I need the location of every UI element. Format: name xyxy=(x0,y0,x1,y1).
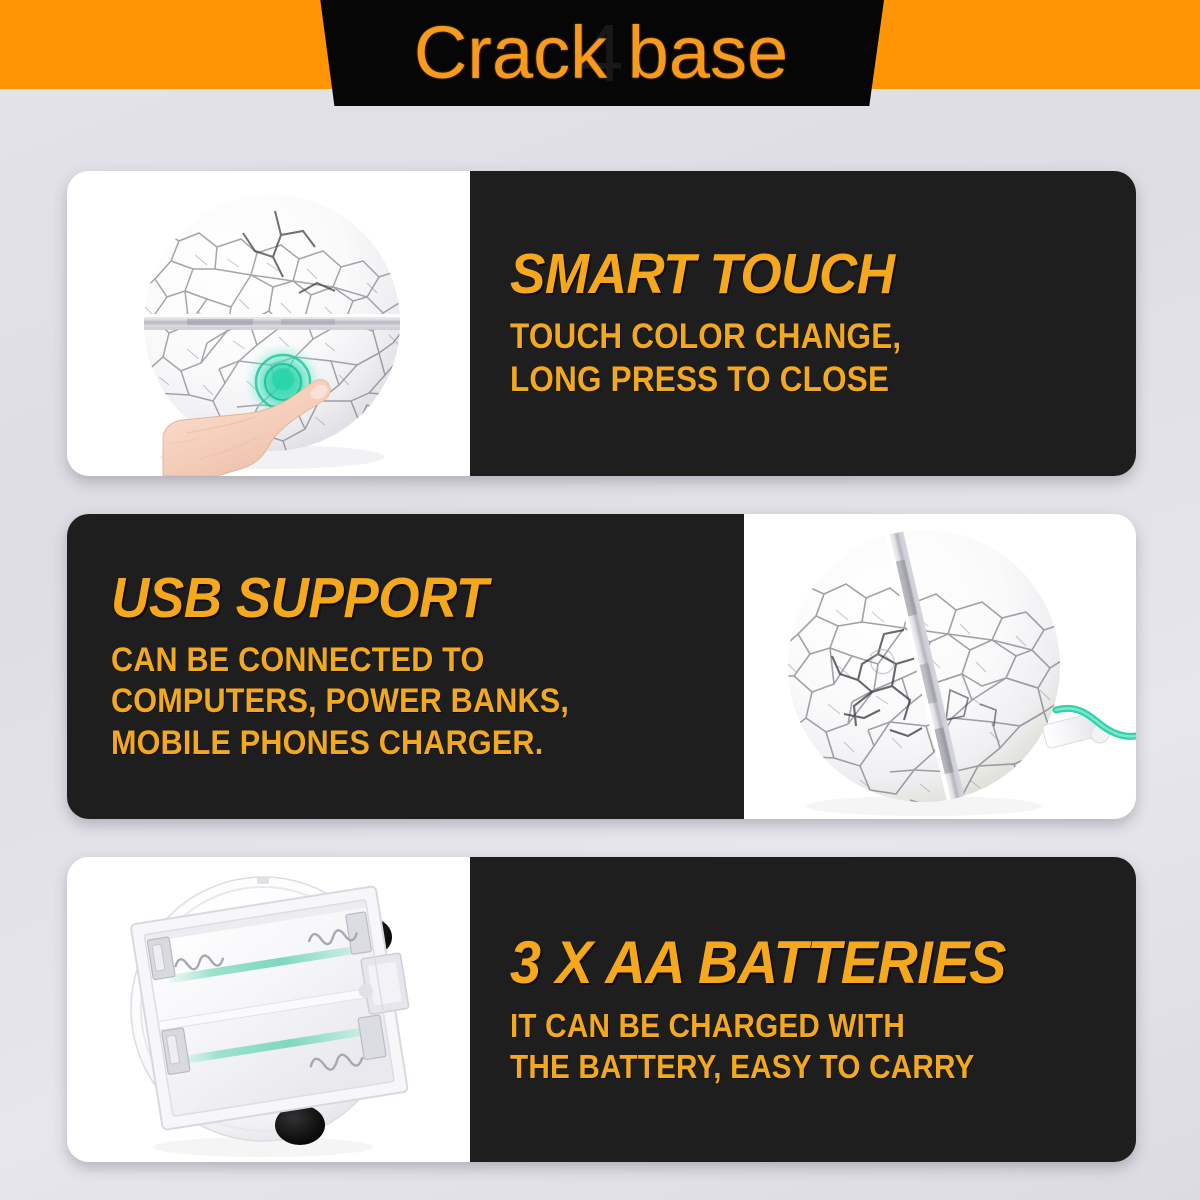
feature-text-smart-touch: SMART TOUCH TOUCH COLOR CHANGE, LONG PRE… xyxy=(470,171,1136,476)
product-photo-aa-batteries xyxy=(67,857,470,1162)
feature-text-usb-support: USB SUPPORT CAN BE CONNECTED TO COMPUTER… xyxy=(67,514,744,819)
usb-cable xyxy=(1042,708,1136,749)
panel-subtext-aa-batteries: IT CAN BE CHARGED WITH THE BATTERY, EASY… xyxy=(510,1006,1073,1087)
page-title: Crack base xyxy=(414,3,788,103)
panel-heading-usb-support: USB SUPPORT xyxy=(111,569,700,627)
panel-subtext-line: COMPUTERS, POWER BANKS, xyxy=(111,681,681,722)
artwork-aa-batteries xyxy=(67,857,470,1162)
battery-compartment xyxy=(130,884,421,1130)
product-photo-smart-touch xyxy=(67,171,470,476)
product-photo-usb-support xyxy=(744,514,1136,819)
feature-text-aa-batteries: 3 X AA BATTERIES IT CAN BE CHARGED WITH … xyxy=(470,857,1136,1162)
panel-subtext-smart-touch: TOUCH COLOR CHANGE, LONG PRESS TO CLOSE xyxy=(510,316,1073,401)
panel-subtext-line: MOBILE PHONES CHARGER. xyxy=(111,723,681,764)
artwork-usb-support xyxy=(744,514,1136,819)
panel-subtext-line: IT CAN BE CHARGED WITH xyxy=(510,1006,1073,1046)
header-title-plate: 4 Crack base xyxy=(318,0,884,106)
panel-heading-smart-touch: SMART TOUCH xyxy=(510,245,1092,303)
panel-subtext-usb-support: CAN BE CONNECTED TO COMPUTERS, POWER BAN… xyxy=(111,640,681,764)
smart-touch-illustration xyxy=(67,171,470,476)
artwork-smart-touch xyxy=(67,171,470,476)
feature-panel-smart-touch: SMART TOUCH TOUCH COLOR CHANGE, LONG PRE… xyxy=(67,171,1136,476)
usb-support-illustration xyxy=(744,514,1136,819)
feature-panel-usb-support: USB SUPPORT CAN BE CONNECTED TO COMPUTER… xyxy=(67,514,1136,819)
panel-heading-aa-batteries: 3 X AA BATTERIES xyxy=(510,932,1092,993)
battery-base-illustration xyxy=(67,857,470,1162)
panel-subtext-line: THE BATTERY, EASY TO CARRY xyxy=(510,1047,1073,1087)
feature-panel-aa-batteries: 3 X AA BATTERIES IT CAN BE CHARGED WITH … xyxy=(67,857,1136,1162)
panel-subtext-line: TOUCH COLOR CHANGE, xyxy=(510,316,1073,359)
panel-subtext-line: CAN BE CONNECTED TO xyxy=(111,640,681,681)
panel-subtext-line: LONG PRESS TO CLOSE xyxy=(510,359,1073,402)
